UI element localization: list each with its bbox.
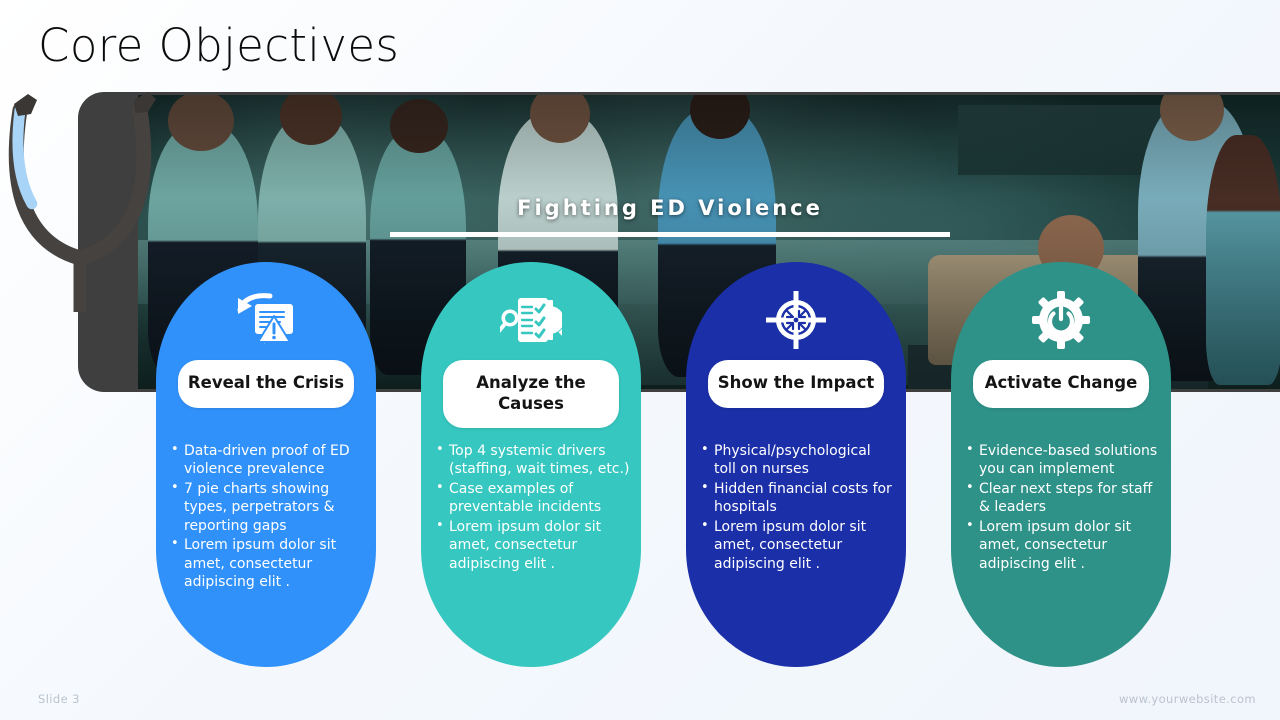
list-item: Evidence-based solutions you can impleme… [965, 442, 1161, 479]
objective-column-show-the-impact[interactable]: Show the Impact Physical/psychological t… [686, 262, 906, 667]
objective-title: Analyze the Causes [451, 373, 611, 414]
objective-columns: Reveal the Crisis Data-driven proof of E… [0, 0, 1280, 720]
objective-card: Activate Change [973, 360, 1149, 408]
objective-bullet-list: Evidence-based solutions you can impleme… [965, 442, 1161, 574]
list-item: Lorem ipsum dolor sit amet, consectetur … [700, 518, 896, 573]
objective-title: Activate Change [981, 373, 1141, 394]
list-item: Clear next steps for staff & leaders [965, 480, 1161, 517]
list-item: Hidden financial costs for hospitals [700, 480, 896, 517]
list-item: Lorem ipsum dolor sit amet, consectetur … [965, 518, 1161, 573]
checklist-analysis-icon [421, 284, 641, 356]
list-item: Lorem ipsum dolor sit amet, consectetur … [170, 536, 366, 591]
objective-bullet-list: Top 4 systemic drivers (staffing, wait t… [435, 442, 631, 574]
objective-bullet-list: Physical/psychological toll on nurses Hi… [700, 442, 896, 574]
list-item: Lorem ipsum dolor sit amet, consectetur … [435, 518, 631, 573]
objective-card: Analyze the Causes [443, 360, 619, 428]
gear-power-icon [951, 284, 1171, 356]
banner-underline [390, 232, 950, 237]
objective-column-reveal-the-crisis[interactable]: Reveal the Crisis Data-driven proof of E… [156, 262, 376, 667]
list-item: 7 pie charts showing types, perpetrators… [170, 480, 366, 535]
objective-column-activate-change[interactable]: Activate Change Evidence-based solutions… [951, 262, 1171, 667]
objective-card: Reveal the Crisis [178, 360, 354, 408]
banner: Fighting ED Violence [390, 196, 950, 237]
list-item: Data-driven proof of ED violence prevale… [170, 442, 366, 479]
target-crosshair-icon [686, 284, 906, 356]
banner-heading: Fighting ED Violence [390, 196, 950, 220]
list-item: Physical/psychological toll on nurses [700, 442, 896, 479]
list-item: Case examples of preventable incidents [435, 480, 631, 517]
objective-column-analyze-the-causes[interactable]: Analyze the Causes Top 4 systemic driver… [421, 262, 641, 667]
list-item: Top 4 systemic drivers (staffing, wait t… [435, 442, 631, 479]
objective-bullet-list: Data-driven proof of ED violence prevale… [170, 442, 366, 593]
stethoscope-icon [2, 82, 172, 312]
objective-title: Reveal the Crisis [186, 373, 346, 394]
objective-title: Show the Impact [716, 373, 876, 394]
objective-card: Show the Impact [708, 360, 884, 408]
document-warning-icon [156, 284, 376, 356]
